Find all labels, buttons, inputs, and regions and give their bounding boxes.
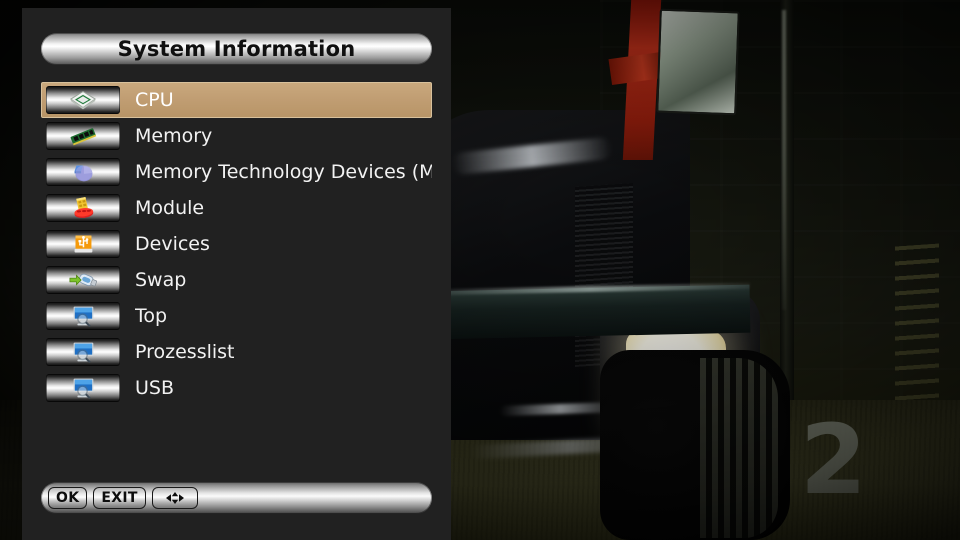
menu-item-label: Swap: [135, 269, 186, 291]
usb-flash-drive-arrow-icon: [46, 266, 120, 294]
menu-item-memory[interactable]: Memory: [41, 118, 432, 154]
menu-item-prozesslist[interactable]: Prozesslist: [41, 334, 432, 370]
menu-list: CPU Memory: [41, 82, 432, 406]
menu-item-label: USB: [135, 377, 174, 399]
menu-item-module[interactable]: Module: [41, 190, 432, 226]
system-information-panel: System Information CPU: [22, 8, 451, 540]
button-bar: OK EXIT: [41, 482, 432, 514]
page-title: System Information: [118, 37, 356, 61]
monitor-magnifier-glyph: [68, 376, 98, 400]
panel-title-bar: System Information: [41, 33, 432, 65]
cpu-chip-glyph: [68, 88, 98, 112]
menu-item-label: Module: [135, 197, 204, 219]
dpad-arrows-glyph: [160, 488, 190, 508]
ok-button[interactable]: OK: [48, 487, 87, 509]
monitor-magnifier-glyph: [68, 340, 98, 364]
menu-item-label: Memory: [135, 125, 212, 147]
menu-item-cpu[interactable]: CPU: [41, 82, 432, 118]
usb-device-glyph: [68, 232, 98, 256]
dpad-arrows-icon[interactable]: [152, 487, 198, 509]
usb-device-icon: [46, 230, 120, 258]
lego-bricks-icon: [46, 194, 120, 222]
pie-chart-icon: [46, 158, 120, 186]
monitor-magnifier-icon: [46, 302, 120, 330]
pie-chart-glyph: [68, 160, 98, 184]
menu-item-usb[interactable]: USB: [41, 370, 432, 406]
monitor-magnifier-icon: [46, 338, 120, 366]
tv-screen: 2 System Information CPU: [0, 0, 960, 540]
monitor-magnifier-glyph: [68, 304, 98, 328]
cpu-chip-icon: [46, 86, 120, 114]
memory-module-glyph: [68, 124, 98, 148]
menu-item-label: Top: [135, 305, 167, 327]
monitor-magnifier-icon: [46, 374, 120, 402]
menu-item-devices[interactable]: Devices: [41, 226, 432, 262]
menu-item-label: Prozesslist: [135, 341, 235, 363]
menu-item-memory-technology-devices[interactable]: Memory Technology Devices (MTD: [41, 154, 432, 190]
menu-item-label: CPU: [135, 89, 174, 111]
menu-item-top[interactable]: Top: [41, 298, 432, 334]
menu-item-label: Memory Technology Devices (MTD: [135, 161, 432, 183]
exit-button[interactable]: EXIT: [93, 487, 145, 509]
menu-item-label: Devices: [135, 233, 210, 255]
menu-item-swap[interactable]: Swap: [41, 262, 432, 298]
memory-module-icon: [46, 122, 120, 150]
swap-arrow-usb-glyph: [68, 268, 98, 292]
lego-bricks-glyph: [68, 196, 98, 220]
